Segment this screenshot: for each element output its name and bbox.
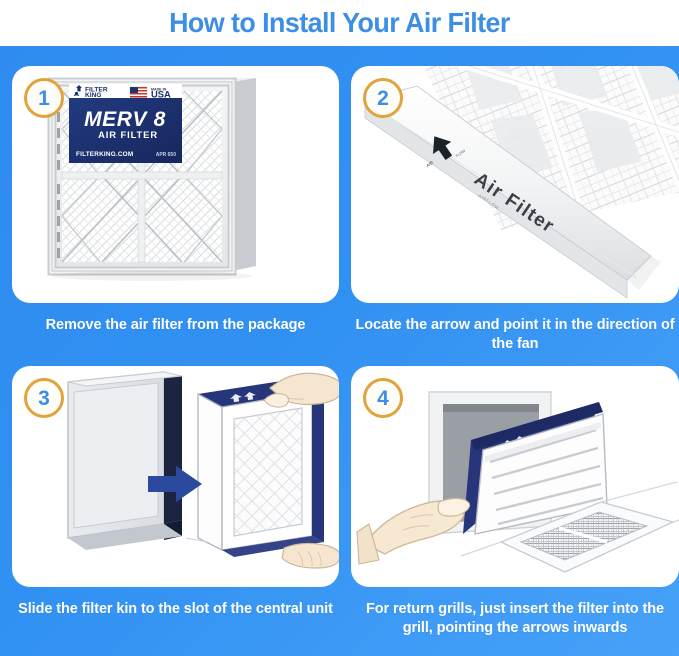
svg-text:USA: USA [151, 88, 171, 99]
infographic-root: How to Install Your Air Filter [0, 0, 679, 656]
svg-text:FILTERKING.COM: FILTERKING.COM [76, 151, 133, 158]
step-caption-2: Locate the arrow and point it in the dir… [351, 316, 679, 354]
hand-top [264, 373, 339, 407]
filter-panel [198, 380, 324, 557]
page-title: How to Install Your Air Filter [169, 7, 510, 39]
svg-text:APR 650: APR 650 [156, 152, 177, 158]
product-label: FILTER KING MADE IN [69, 84, 182, 163]
step-panel-4: 4 For return grills, just insert the fil… [351, 366, 679, 656]
title-bar: How to Install Your Air Filter [0, 0, 679, 46]
step-badge-2: 2 [363, 78, 403, 118]
step-badge-3: 3 [24, 378, 64, 418]
step-badge-4: 4 [363, 378, 403, 418]
step-panel-1: FILTER KING MADE IN [12, 66, 339, 366]
svg-text:MERV 8: MERV 8 [84, 108, 166, 131]
hand-bottom [282, 543, 339, 568]
svg-text:KING: KING [85, 92, 101, 99]
central-unit [68, 372, 182, 550]
step-badge-1: 1 [24, 78, 64, 118]
svg-text:AIR FILTER: AIR FILTER [98, 129, 158, 140]
step-panel-2: AIR FLOW Air Filter AIRFLOW 2 Locate th [351, 66, 679, 366]
step-panel-3: 3 Slide the filter kin to the slot of th… [12, 366, 339, 656]
steps-stage: FILTER KING MADE IN [0, 46, 679, 656]
step-caption-1: Remove the air filter from the package [12, 316, 339, 335]
step-caption-3: Slide the filter kin to the slot of the … [12, 600, 339, 619]
step-caption-4: For return grills, just insert the filte… [351, 600, 679, 638]
